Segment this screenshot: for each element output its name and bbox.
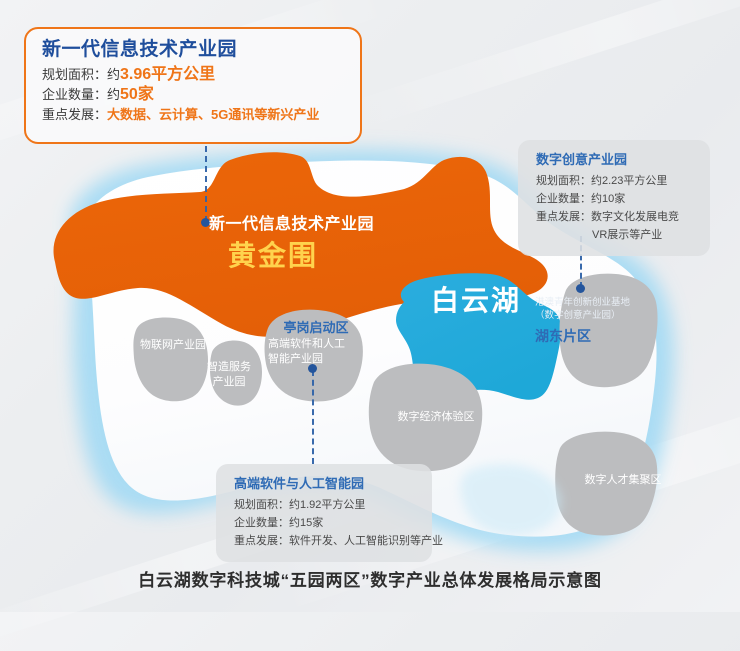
callout-title: 高端软件与人工智能园 <box>234 474 416 494</box>
callout-digital-creative-park[interactable]: 数字创意产业园 规划面积：约2.23平方公里 企业数量：约10家 重点发展：数字… <box>518 140 710 256</box>
map-label-digital-economy-zone: 数字经济体验区 <box>388 410 484 425</box>
label-line-1: 港澳青年创新创业基地 <box>535 296 665 309</box>
label-line-2: （数字创意产业园） <box>535 309 665 322</box>
map-label-smart-manufacturing: 智造服务 产业园 <box>196 360 262 390</box>
callout-row-area: 规划面积：约1.92平方公里 <box>234 496 416 514</box>
row-unit: 平方公里 <box>151 66 215 83</box>
row-label: 规划面积： <box>536 175 591 187</box>
callout-new-generation-it-park[interactable]: 新一代信息技术产业园 规划面积：约3.96平方公里 企业数量：约50家 重点发展… <box>24 27 362 144</box>
row-value: VR展示等产业 <box>592 229 662 241</box>
callout-high-end-software-ai-park[interactable]: 高端软件与人工智能园 规划面积：约1.92平方公里 企业数量：约15家 重点发展… <box>216 464 432 562</box>
map-label-iot-park: 物联网产业园 <box>128 338 218 353</box>
connector-dot-digital-creative <box>576 284 585 293</box>
row-highlight: 大数据、云计算、5G通讯等新兴产业 <box>107 107 319 122</box>
map-label-hudong-zone: 港澳青年创新创业基地 （数字创意产业园） 湖东片区 <box>535 296 665 346</box>
label-line-2: 产业园 <box>196 375 262 390</box>
callout-row-area: 规划面积：约2.23平方公里 <box>536 172 694 190</box>
label-title: 湖东片区 <box>535 326 665 346</box>
row-unit: 家 <box>138 86 154 103</box>
row-prefix: 约 <box>107 67 120 82</box>
row-label: 规划面积： <box>42 67 107 82</box>
label-line-2: 智能产业园 <box>268 352 364 367</box>
row-label: 企业数量： <box>234 517 289 529</box>
callout-row-count: 企业数量：约50家 <box>42 85 346 105</box>
row-value: 约2.23平方公里 <box>591 175 667 187</box>
callout-row-focus: 重点发展：软件开发、人工智能识别等产业 <box>234 532 416 550</box>
callout-row-count: 企业数量：约10家 <box>536 190 694 208</box>
row-highlight: 50 <box>120 86 138 103</box>
row-value: 数字文化发展电竞 <box>591 211 679 223</box>
row-value: 软件开发、人工智能识别等产业 <box>289 535 443 547</box>
row-highlight: 3.96 <box>120 66 151 83</box>
map-label-tinggang-zone: 亭岗启动区 高端软件和人工 智能产业园 <box>268 319 364 367</box>
row-value: 约15家 <box>289 517 323 529</box>
row-label: 规划面积： <box>234 499 289 511</box>
figure-caption: 白云湖数字科技城“五园两区”数字产业总体发展格局示意图 <box>0 566 740 591</box>
map-label-baiyun-lake: 白云湖 <box>431 279 521 319</box>
label-line-1: 高端软件和人工 <box>268 337 364 352</box>
callout-row-focus-cont: VR展示等产业 <box>536 226 694 244</box>
map-label-huangjinwei: 黄金围 <box>228 234 318 274</box>
row-label: 重点发展： <box>42 107 107 122</box>
callout-row-area: 规划面积：约3.96平方公里 <box>42 65 346 85</box>
label-line-1: 智造服务 <box>196 360 262 375</box>
connector-high-end-software <box>312 370 314 464</box>
row-value: 约10家 <box>591 193 625 205</box>
map-label-huangjinwei-subtitle: 新一代信息技术产业园 <box>209 210 374 234</box>
row-label: 重点发展： <box>234 535 289 547</box>
row-label: 企业数量： <box>536 193 591 205</box>
infographic-canvas: 新一代信息技术产业园 规划面积：约3.96平方公里 企业数量：约50家 重点发展… <box>0 0 740 612</box>
callout-row-count: 企业数量：约15家 <box>234 514 416 532</box>
row-label: 重点发展： <box>536 211 591 223</box>
callout-row-focus: 重点发展：大数据、云计算、5G通讯等新兴产业 <box>42 105 346 125</box>
row-label: 企业数量： <box>42 87 107 102</box>
label-title: 亭岗启动区 <box>268 319 364 337</box>
callout-title: 数字创意产业园 <box>536 150 694 170</box>
row-value: 约1.92平方公里 <box>289 499 365 511</box>
connector-main-callout <box>205 146 207 222</box>
row-prefix: 约 <box>107 87 120 102</box>
map-label-talent-zone: 数字人才集聚区 <box>570 473 676 488</box>
callout-title: 新一代信息技术产业园 <box>42 38 346 62</box>
callout-row-focus: 重点发展：数字文化发展电竞 <box>536 208 694 226</box>
